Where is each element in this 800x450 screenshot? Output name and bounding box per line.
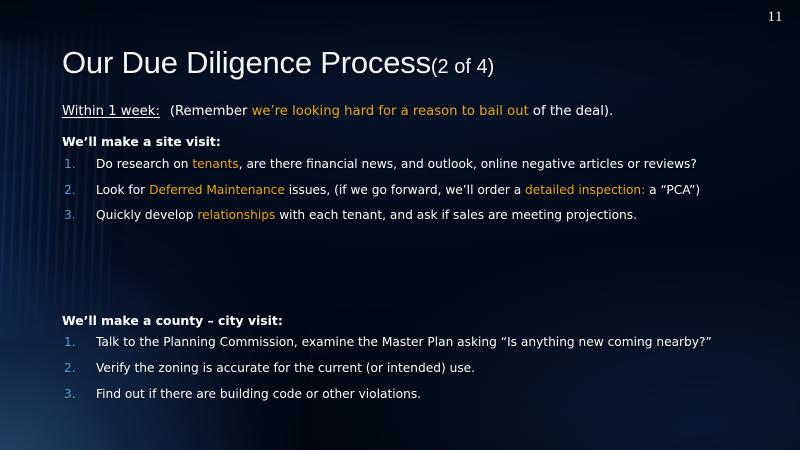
lede-highlight: we’re looking hard for a reason to bail …: [252, 104, 529, 119]
section-two-list: 1.Talk to the Planning Commission, exami…: [62, 335, 774, 403]
list-item-number: 1.: [64, 157, 86, 173]
slide-content: 11 Our Due Diligence Process(2 of 4) Wit…: [0, 0, 800, 450]
list-item: 2.Verify the zoning is accurate for the …: [62, 361, 774, 377]
list-item-text: Verify the zoning is accurate for the cu…: [96, 361, 475, 375]
presentation-slide: 11 Our Due Diligence Process(2 of 4) Wit…: [0, 0, 800, 450]
list-item: 1.Talk to the Planning Commission, exami…: [62, 335, 774, 351]
slide-body: Within 1 week:(Remember we’re looking ha…: [62, 104, 774, 224]
list-item-text: Look for Deferred Maintenance issues, (i…: [96, 183, 700, 197]
lede-line: Within 1 week:(Remember we’re looking ha…: [62, 104, 774, 121]
section-two: We’ll make a county – city visit: 1.Talk…: [62, 313, 774, 403]
list-item-number: 2.: [64, 183, 86, 199]
section-one-heading: We’ll make a site visit:: [62, 134, 774, 150]
lede-label: Within 1 week:: [62, 104, 160, 119]
list-item-number: 2.: [64, 361, 86, 377]
slide-title-main: Our Due Diligence Process: [62, 45, 431, 80]
list-item: 2.Look for Deferred Maintenance issues, …: [62, 183, 774, 199]
list-item-number: 3.: [64, 208, 86, 224]
list-item-number: 3.: [64, 387, 86, 403]
list-item-number: 1.: [64, 335, 86, 351]
list-item: 1.Do research on tenants, are there fina…: [62, 157, 774, 173]
list-item-text: Do research on tenants, are there financ…: [96, 157, 697, 171]
list-item-text: Find out if there are building code or o…: [96, 387, 421, 401]
page-number: 11: [768, 9, 783, 26]
slide-title: Our Due Diligence Process(2 of 4): [62, 45, 494, 81]
section-two-heading: We’ll make a county – city visit:: [62, 313, 774, 328]
list-item-text: Talk to the Planning Commission, examine…: [96, 335, 712, 349]
lede-text-before: (Remember: [170, 104, 252, 119]
lede-text-after: of the deal).: [529, 104, 614, 119]
section-one-list: 1.Do research on tenants, are there fina…: [62, 157, 774, 225]
slide-title-suffix: (2 of 4): [431, 56, 494, 78]
list-item-text: Quickly develop relationships with each …: [96, 208, 637, 222]
list-item: 3.Find out if there are building code or…: [62, 387, 774, 403]
list-item: 3.Quickly develop relationships with eac…: [62, 208, 774, 224]
